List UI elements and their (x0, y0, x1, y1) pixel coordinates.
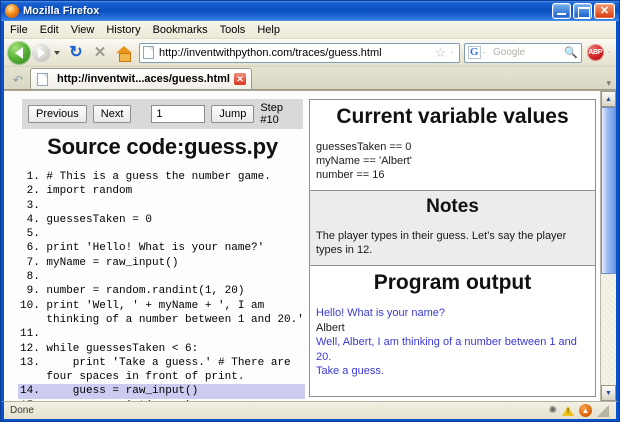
menu-history[interactable]: History (106, 24, 140, 36)
output-line: Take a guess. (316, 364, 589, 379)
source-line: 1. # This is a guess the number game. (18, 170, 305, 184)
output-heading: Program output (310, 266, 595, 301)
source-line: 4. guessesTaken = 0 (18, 213, 305, 227)
tab-bar: ↶ http://inventwit...aces/guess.html ✕ ▾ (4, 67, 616, 90)
menu-bookmarks[interactable]: Bookmarks (153, 24, 208, 36)
home-icon (116, 46, 132, 60)
source-line: 2. import random (18, 184, 305, 198)
minimize-button[interactable] (552, 3, 571, 19)
forward-arrow-icon (38, 48, 45, 58)
source-line: 9. number = random.randint(1, 20) (18, 284, 305, 298)
trace-controls: Previous Next Jump Step #10 (22, 99, 303, 129)
variable-entry: number == 16 (316, 168, 589, 182)
adblock-icon[interactable]: ▲ (579, 404, 592, 417)
variables-panel: Current variable values guessesTaken == … (310, 100, 595, 191)
page-viewport: Previous Next Jump Step #10 Source code:… (4, 90, 616, 401)
close-button[interactable] (594, 3, 615, 19)
notes-text: The player types in their guess. Let's s… (310, 224, 595, 265)
page-icon (143, 46, 154, 59)
menu-view[interactable]: View (71, 24, 95, 36)
step-number-input[interactable] (151, 105, 205, 123)
menu-bar: File Edit View History Bookmarks Tools H… (4, 21, 616, 39)
google-icon[interactable]: G (468, 46, 481, 59)
source-line: 5. (18, 227, 305, 241)
nav-history-group (7, 41, 63, 65)
address-bar[interactable]: http://inventwithpython.com/traces/guess… (139, 43, 460, 63)
output-lines: Hello! What is your name?AlbertWell, Alb… (310, 301, 595, 387)
firefox-window: Mozilla Firefox File Edit View History B… (0, 0, 620, 422)
variables-list: guessesTaken == 0myName == 'Albert'numbe… (310, 135, 595, 190)
trace-page: Previous Next Jump Step #10 Source code:… (4, 91, 600, 401)
source-line: 12. while guessesTaken < 6: (18, 342, 305, 356)
source-line: 11. (18, 327, 305, 341)
window-bottom-edge (1, 419, 619, 421)
source-line: 6. print 'Hello! What is your name?' (18, 241, 305, 255)
source-line: 8. (18, 270, 305, 284)
status-icon-tray: ✺ ▲ (549, 404, 613, 417)
source-line: 10. print 'Well, ' + myName + ', I am th… (18, 299, 305, 328)
tab-list-icon[interactable]: ↶ (8, 71, 28, 89)
status-text: Done (7, 405, 549, 416)
scroll-down-button[interactable]: ▼ (601, 385, 616, 401)
output-line: Well, Albert, I am thinking of a number … (316, 335, 589, 364)
forward-button[interactable] (31, 43, 51, 63)
scrollbar-track[interactable] (601, 107, 616, 385)
search-separator: · (483, 47, 486, 58)
home-button[interactable] (113, 42, 135, 64)
tab-close-icon[interactable]: ✕ (234, 73, 246, 85)
source-heading: Source code:guess.py (16, 134, 309, 160)
tab-favicon-icon (37, 73, 48, 86)
menu-edit[interactable]: Edit (40, 24, 59, 36)
scrollbar-thumb[interactable] (601, 107, 616, 274)
source-line: 14. guess = raw_input() (18, 384, 305, 398)
source-column: Previous Next Jump Step #10 Source code:… (4, 91, 309, 401)
menu-help[interactable]: Help (257, 24, 280, 36)
source-line: 13. print 'Take a guess.' # There are fo… (18, 356, 305, 385)
next-button[interactable]: Next (93, 105, 132, 123)
firefox-logo-icon (5, 4, 19, 18)
tab-title: http://inventwit...aces/guess.html (57, 73, 230, 85)
status-bar: Done ✺ ▲ (1, 401, 619, 419)
browser-chrome: File Edit View History Bookmarks Tools H… (1, 21, 619, 401)
tab-guess-html[interactable]: http://inventwit...aces/guess.html ✕ (30, 68, 252, 89)
menu-file[interactable]: File (10, 24, 28, 36)
variable-entry: myName == 'Albert' (316, 154, 589, 168)
window-controls (552, 3, 617, 19)
source-line: 7. myName = raw_input() (18, 256, 305, 270)
page-scrollbar[interactable]: ▲ ▼ (600, 91, 616, 401)
bookmark-star-icon[interactable]: ☆ (435, 45, 447, 61)
adblock-plus-icon[interactable]: ABP (587, 44, 604, 61)
source-line: 3. (18, 199, 305, 213)
info-column: Current variable values guessesTaken == … (309, 99, 596, 397)
output-panel: Program output Hello! What is your name?… (310, 266, 595, 396)
previous-button[interactable]: Previous (28, 105, 87, 123)
tab-overflow-icon[interactable]: ▾ (606, 78, 616, 89)
sparkle-icon[interactable]: ✺ (549, 405, 557, 416)
back-button[interactable] (7, 41, 31, 65)
chevron-down-icon[interactable] (54, 51, 60, 55)
menu-tools[interactable]: Tools (220, 24, 246, 36)
url-text: http://inventwithpython.com/traces/guess… (159, 47, 433, 59)
reload-button[interactable]: ↻ (65, 42, 87, 64)
title-bar: Mozilla Firefox (1, 1, 619, 21)
output-line: Albert (316, 321, 589, 336)
search-input[interactable]: Google (493, 47, 564, 58)
toolbar-overflow-separator: · (608, 47, 611, 58)
step-counter-label: Step #10 (260, 102, 297, 126)
address-separator: · (450, 47, 453, 58)
variables-heading: Current variable values (310, 100, 595, 135)
back-arrow-icon (15, 47, 23, 59)
maximize-button[interactable] (573, 3, 592, 19)
source-code-listing: 1. # This is a guess the number game. 2.… (4, 170, 309, 401)
variable-entry: guessesTaken == 0 (316, 140, 589, 154)
jump-button[interactable]: Jump (211, 105, 254, 123)
search-bar[interactable]: G · Google 🔍 (464, 43, 582, 63)
warning-icon[interactable] (562, 406, 574, 416)
notes-panel: Notes The player types in their guess. L… (310, 191, 595, 266)
output-line: Hello! What is your name? (316, 306, 589, 321)
resize-grip[interactable] (597, 405, 609, 417)
stop-button[interactable]: ✕ (89, 42, 111, 64)
scroll-up-button[interactable]: ▲ (601, 91, 616, 107)
window-title: Mozilla Firefox (23, 5, 552, 17)
notes-heading: Notes (310, 191, 595, 224)
navigation-toolbar: ↻ ✕ http://inventwithpython.com/traces/g… (4, 39, 616, 67)
search-icon[interactable]: 🔍 (564, 46, 578, 59)
